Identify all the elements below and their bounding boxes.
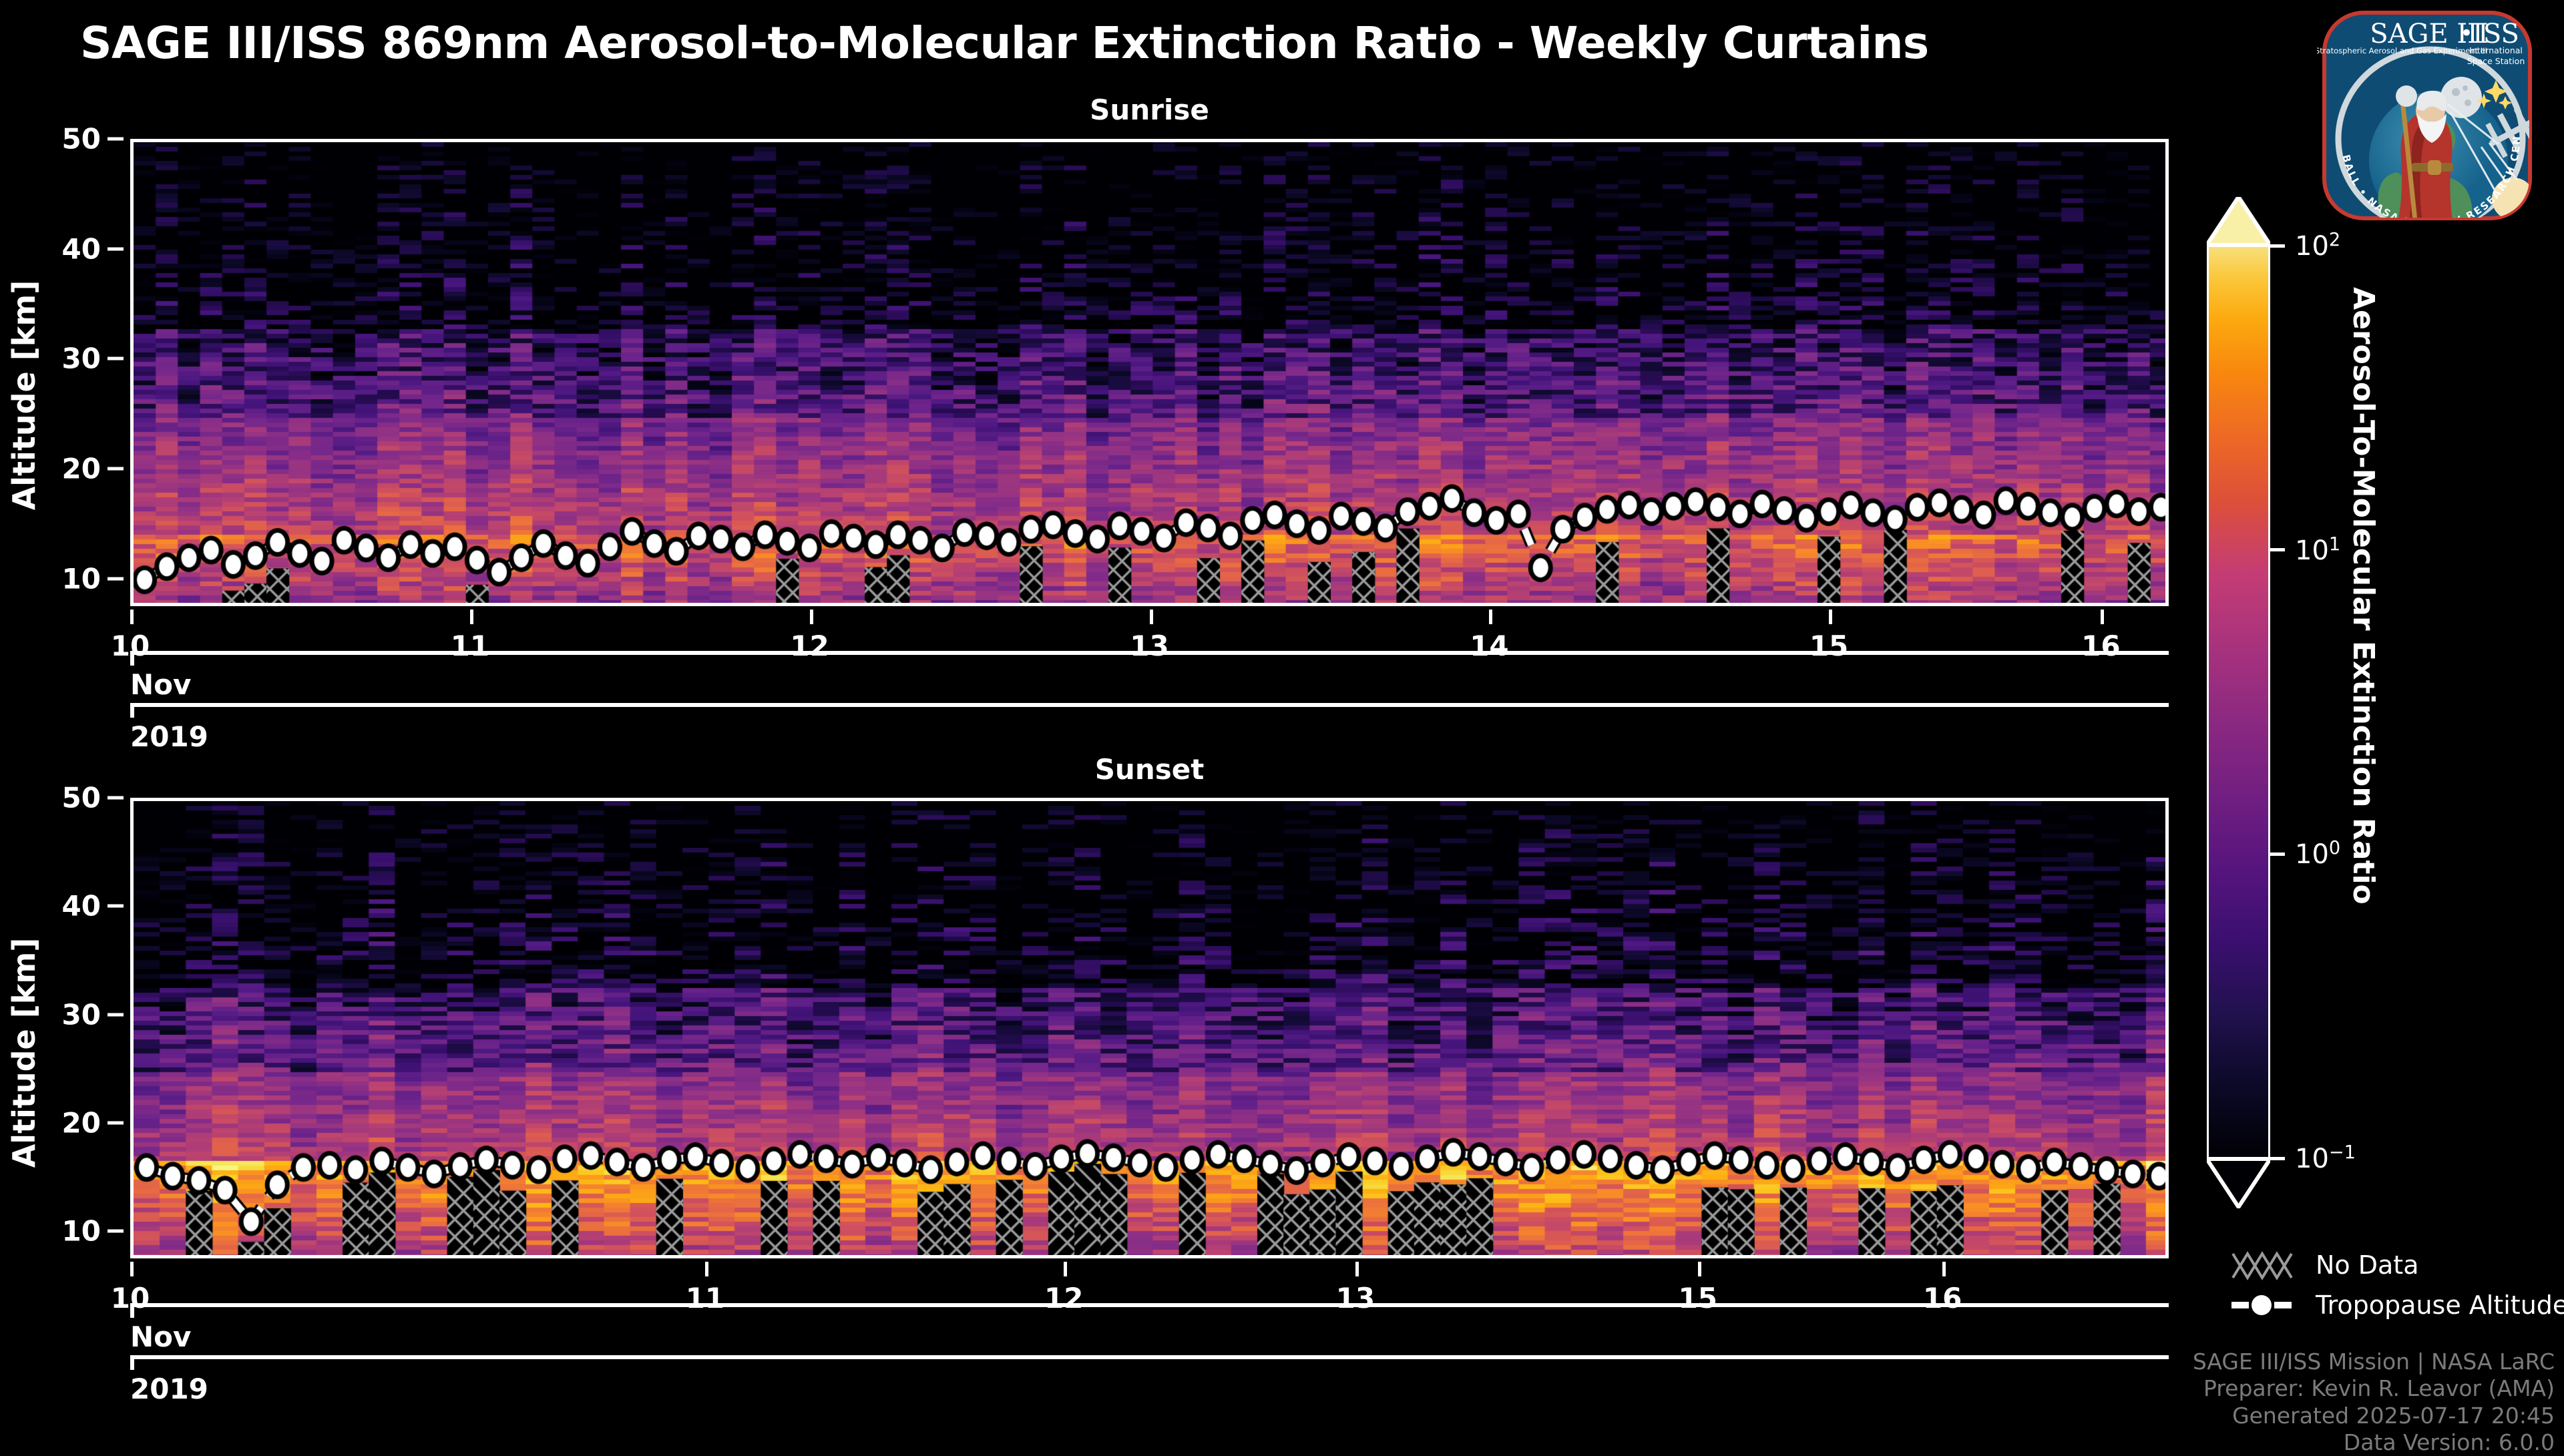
axis-level-tick [130,1303,134,1318]
page-title: SAGE III/ISS 869nm Aerosol-to-Molecular … [80,17,1929,69]
y-tick-mark [108,1230,124,1233]
x-tick-mark [1942,1262,1946,1276]
colorbar-tick-label: 10−1 [2295,1142,2356,1174]
y-tick-label: 40 [62,890,101,923]
axis-level-rule [130,1355,2169,1359]
patch-title-dot: • [2460,20,2473,47]
x-tick-mark [705,1262,708,1276]
axis-level-label-nov: Nov [130,1320,191,1353]
panel-title-sunrise: Sunrise [130,93,2169,126]
colorbar[interactable]: 10210110010−1 [2207,197,2270,1208]
patch-subtitle-left: Stratospheric Aerosol and Gas Experiment… [2317,46,2487,55]
colorbar-tick-mark [2270,1157,2285,1160]
axis-level-tick [130,1355,134,1370]
patch-subtitle-right-1: International [2469,45,2523,55]
footer-line-preparer: Preparer: Kevin R. Leavor (AMA) [2193,1375,2555,1402]
footer-line-mission: SAGE III/ISS Mission | NASA LaRC [2193,1349,2555,1375]
y-tick-mark [108,905,124,908]
y-tick-label: 30 [62,342,101,375]
y-tick-mark [108,357,124,360]
axis-level-rule [130,651,2169,655]
axis-level-label-nov: Nov [130,668,191,701]
legend-label-no-data: No Data [2316,1250,2419,1280]
x-tick-mark [130,1262,134,1276]
y-tick-label: 50 [62,782,101,814]
x-tick-mark [1064,1262,1067,1276]
y-tick-mark [108,1013,124,1016]
axis-level-tick [130,651,134,666]
axis-level-tick [130,703,134,718]
heatmap-panel-sunset[interactable] [130,798,2169,1258]
axis-level-rule [130,703,2169,707]
colorbar-label: Aerosol-To-Molecular Extinction Ratio [2346,287,2380,905]
patch-subtitle-right-2: Space Station [2467,56,2525,66]
y-tick-label: 50 [62,123,101,156]
axis-level-label-2019: 2019 [130,720,208,753]
colorbar-tick-label: 100 [2295,838,2340,870]
x-tick-mark [810,610,813,624]
x-tick-mark [1698,1262,1701,1276]
y-axis-label-sunrise: Altitude [km] [6,280,42,511]
colorbar-tick-mark [2270,548,2285,551]
colorbar-tick-mark [2270,244,2285,248]
y-tick-mark [108,247,124,250]
x-tick-mark [130,610,134,624]
heatmap-panel-sunrise[interactable] [130,139,2169,606]
no-data-hatch-icon [2230,1250,2302,1280]
legend-item-tropopause: Tropopause Altitude [2230,1285,2564,1325]
axis-level-rule [130,1303,2169,1307]
y-tick-mark [108,796,124,800]
x-tick-mark [1355,1262,1359,1276]
panel-title-sunset: Sunset [130,753,2169,786]
x-tick-mark [1150,610,1153,624]
y-axis-ticks-sunset: 1020304050 [40,798,124,1258]
y-tick-mark [108,138,124,141]
x-tick-mark [470,610,473,624]
y-axis-ticks-sunrise: 1020304050 [40,139,124,606]
y-tick-mark [108,577,124,580]
axis-level-label-2019: 2019 [130,1373,208,1405]
footer-line-version: Data Version: 6.0.0 [2193,1429,2555,1456]
y-tick-mark [108,1122,124,1125]
y-tick-label: 10 [62,1215,101,1248]
y-tick-label: 30 [62,998,101,1031]
x-axis-level-labels-sunrise: Nov2019 [130,651,2169,744]
y-tick-mark [108,467,124,471]
x-axis-level-labels-sunset: Nov2019 [130,1303,2169,1397]
y-tick-label: 40 [62,232,101,265]
footer-line-generated: Generated 2025-07-17 20:45 [2193,1403,2555,1429]
legend-item-no-data: No Data [2230,1245,2564,1285]
legend: No Data Tropopause Altitude [2230,1245,2564,1325]
colorbar-tick-label: 101 [2295,533,2340,565]
legend-label-tropopause: Tropopause Altitude [2316,1290,2564,1320]
colorbar-tick-mark [2270,853,2285,856]
x-tick-mark [1829,610,1832,624]
x-tick-mark [2101,610,2104,624]
y-tick-label: 20 [62,453,101,485]
colorbar-tick-label: 102 [2295,230,2340,262]
y-axis-label-sunset: Altitude [km] [6,938,42,1168]
y-tick-label: 20 [62,1107,101,1140]
footer-credits: SAGE III/ISS Mission | NASA LaRC Prepare… [2193,1349,2555,1456]
y-tick-label: 10 [62,562,101,595]
sage-iii-iss-mission-patch: BALL • NASA LANGLEY RESEARCH CENTER • TA… [2317,5,2537,226]
colorbar-ticks: 10210110010−1 [2207,197,2270,1208]
tropopause-marker-line-icon [2230,1290,2302,1320]
x-tick-mark [1489,610,1492,624]
